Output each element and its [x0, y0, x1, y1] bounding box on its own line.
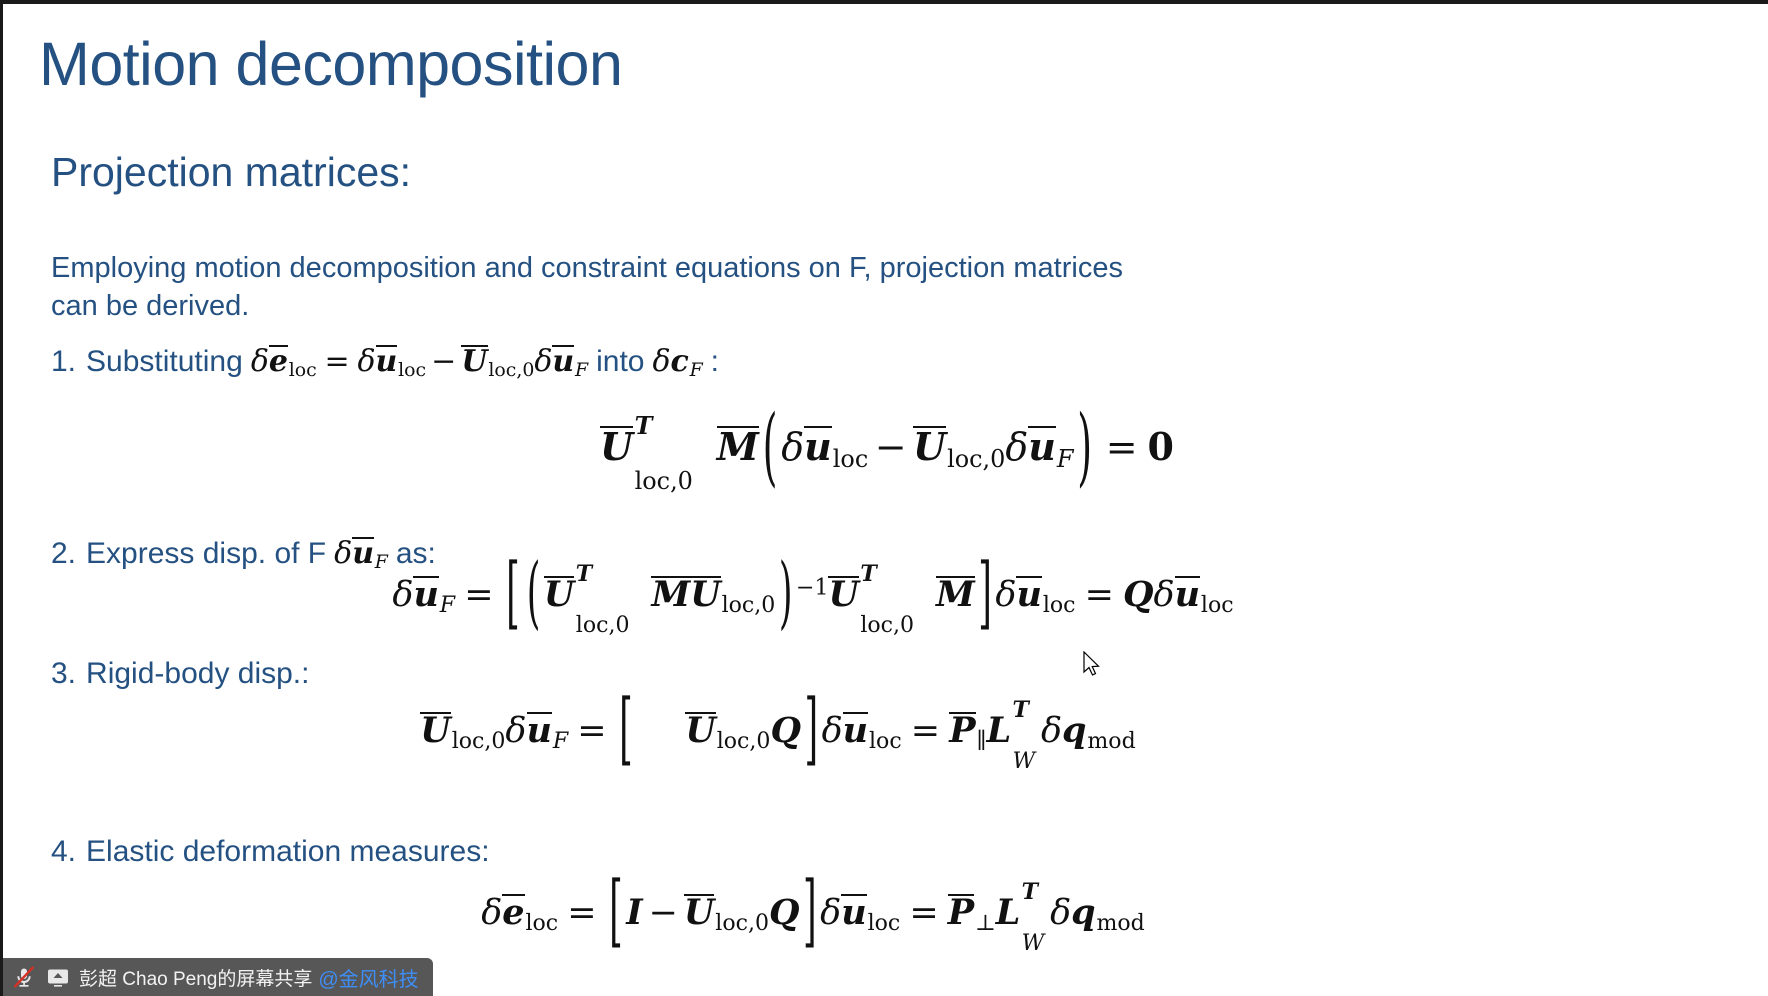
slide-canvas: Motion decomposition Projection matrices…: [0, 0, 1768, 996]
intro-paragraph: Employing motion decomposition and const…: [51, 249, 1151, 325]
microphone-muted-icon[interactable]: [11, 964, 37, 990]
step-3-number: 3.: [51, 659, 76, 689]
step-3-text-before: Rigid-body disp.:: [86, 659, 309, 689]
step-2-label: 2. Express disp. of F δuF as:: [51, 537, 436, 569]
screenshare-banner[interactable]: 彭超 Chao Peng的屏幕共享 @金风科技: [3, 958, 433, 996]
step-1-inline-math: δeloc=δuloc−Uloc,0δuF: [251, 345, 588, 377]
equation-4-math: δeloc=[I−Uloc,0Q]δuloc=P⊥LTWδqmod: [481, 892, 1145, 933]
step-4-text-before: Elastic deformation measures:: [86, 837, 490, 867]
step-4-label: 4. Elastic deformation measures:: [51, 837, 490, 867]
equation-2-math: δuF=[(UTloc,0MUloc,0)−1UTloc,0M]δuloc=Qδ…: [392, 574, 1233, 615]
step-2-inline-math: δuF: [334, 537, 388, 569]
equation-1: UTloc,0M(δuloc−Uloc,0δuF)=0: [3, 424, 1768, 469]
equation-3-math: Uloc,0δuF=[Uloc,0Q]δuloc=P∥LTWδqmod: [420, 710, 1135, 751]
step-1-text-before: Substituting: [86, 347, 243, 377]
step-1-text-after: into: [596, 347, 644, 377]
step-1-number: 1.: [51, 347, 76, 377]
screen-share-icon[interactable]: [45, 964, 71, 990]
step-3-label: 3. Rigid-body disp.:: [51, 659, 309, 689]
page-title: Motion decomposition: [39, 34, 622, 95]
step-2-text-before: Express disp. of F: [86, 539, 326, 569]
step-2-number: 2.: [51, 539, 76, 569]
screenshare-label: 彭超 Chao Peng的屏幕共享: [79, 964, 312, 991]
mouse-pointer-icon: [1083, 651, 1103, 679]
step-4-number: 4.: [51, 837, 76, 867]
step-1-label: 1. Substituting δeloc=δuloc−Uloc,0δuF in…: [51, 345, 719, 377]
step-1-text-end: :: [711, 347, 719, 377]
section-heading: Projection matrices:: [51, 152, 411, 193]
equation-2: δuF=[(UTloc,0MUloc,0)−1UTloc,0M]δuloc=Qδ…: [3, 574, 1623, 615]
step-2-text-after: as:: [396, 539, 436, 569]
equation-1-math: UTloc,0M(δuloc−Uloc,0δuF)=0: [600, 424, 1174, 469]
equation-3: Uloc,0δuF=[Uloc,0Q]δuloc=P∥LTWδqmod: [3, 710, 1553, 751]
step-1-inline-math-2: δcF: [652, 347, 702, 377]
equation-4: δeloc=[I−Uloc,0Q]δuloc=P⊥LTWδqmod: [3, 892, 1623, 933]
watermark-label: @金风科技: [318, 963, 418, 992]
